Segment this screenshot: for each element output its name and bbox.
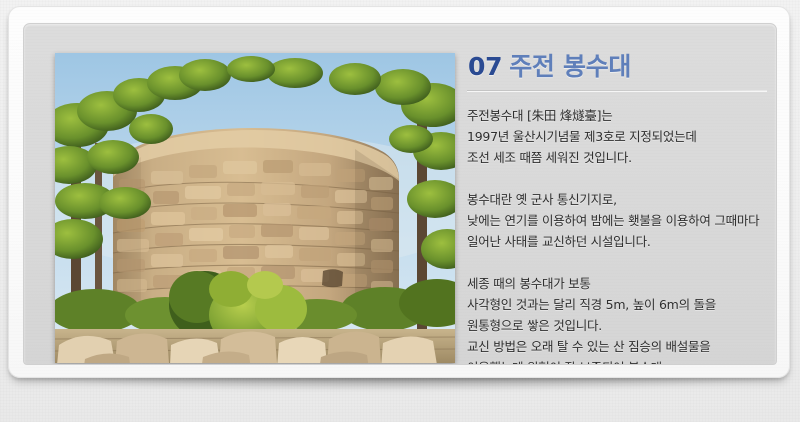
body-text: 주전봉수대 [朱田 烽燧臺]는 1997년 울산시기념물 제3호로 지정되었는데… <box>467 105 767 365</box>
paragraph-line: 1997년 울산시기념물 제3호로 지정되었는데 <box>467 126 767 147</box>
paragraph-line: 조선 세조 때쯤 세워진 것입니다. <box>467 147 767 168</box>
content-panel: 07주전 봉수대 주전봉수대 [朱田 烽燧臺]는 1997년 울산시기념물 제3… <box>23 23 777 365</box>
foreground-rocks <box>55 329 455 363</box>
paragraph-line: 일어난 사태를 교신하던 시설입니다. <box>467 231 767 252</box>
content-card: 07주전 봉수대 주전봉수대 [朱田 烽燧臺]는 1997년 울산시기념물 제3… <box>8 6 790 378</box>
title-number: 07 <box>468 52 502 81</box>
title-text: 주전 봉수대 <box>509 52 631 81</box>
page-title: 07주전 봉수대 <box>467 50 767 84</box>
title-divider <box>467 90 767 91</box>
beacon-tower-photo <box>55 53 455 363</box>
paragraph-line: 사각형인 것과는 달리 직경 5m, 높이 6m의 돌을 <box>467 294 767 315</box>
paragraph-line: 세종 때의 봉수대가 보통 <box>467 273 767 294</box>
paragraph-line: 낮에는 연기를 이용하여 밤에는 횃불을 이용하여 그때마다 <box>467 210 767 231</box>
photo-illustration <box>55 53 455 363</box>
paragraph-line: 원통형으로 쌓은 것입니다. <box>467 315 767 336</box>
article-text-column: 07주전 봉수대 주전봉수대 [朱田 烽燧臺]는 1997년 울산시기념물 제3… <box>467 50 767 360</box>
paragraph-line: 교신 방법은 오래 탈 수 있는 산 짐승의 배설물을 <box>467 336 767 357</box>
paragraph-line: 봉수대란 옛 군사 통신기지로, <box>467 189 767 210</box>
paragraph-line: 이용했는데 원형이 잘 보존되어 봉수대 <box>467 357 767 365</box>
paragraph-line: 주전봉수대 [朱田 烽燧臺]는 <box>467 105 767 126</box>
